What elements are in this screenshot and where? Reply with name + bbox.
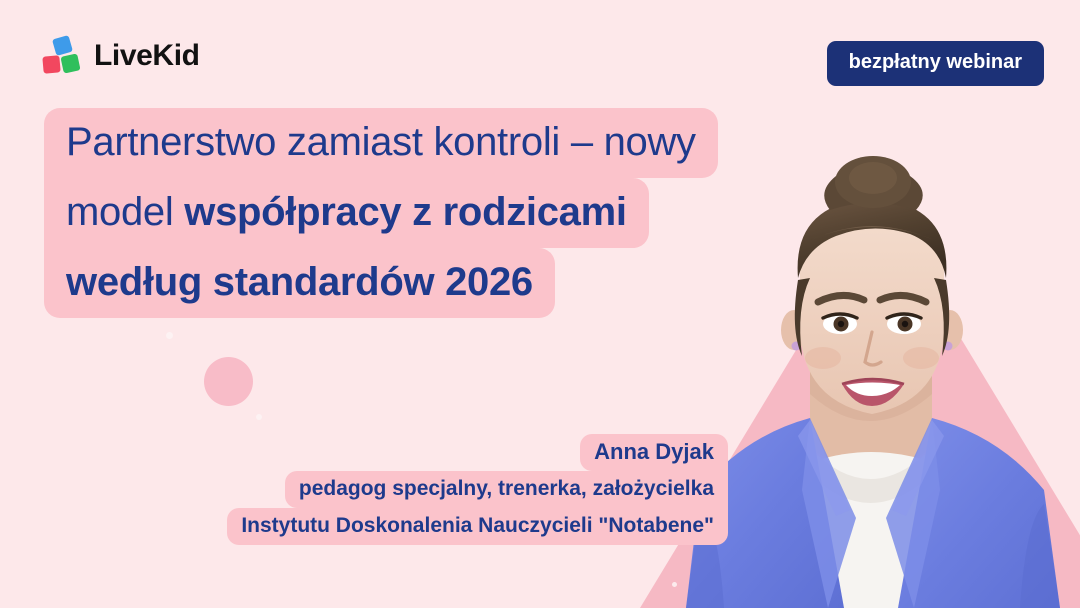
free-webinar-badge: bezpłatny webinar xyxy=(827,41,1044,86)
background-dot-1 xyxy=(166,332,173,339)
speaker-organization: Instytutu Doskonalenia Nauczycieli "Nota… xyxy=(227,508,728,545)
speaker-name: Anna Dyjak xyxy=(580,434,728,471)
headline-line-1: Partnerstwo zamiast kontroli – nowy xyxy=(44,108,718,178)
speaker-role: pedagog specjalny, trenerka, założycielk… xyxy=(285,471,728,508)
livekid-squares-logo-icon xyxy=(40,36,82,76)
speaker-block: Anna Dyjak pedagog specjalny, trenerka, … xyxy=(227,434,728,545)
background-dot-2 xyxy=(256,414,262,420)
background-circle-shape xyxy=(204,357,253,406)
logo-square-blue-icon xyxy=(52,35,73,56)
headline-line-2-bold: współpracy z rodzicami xyxy=(184,190,626,234)
logo-wordmark: LiveKid xyxy=(94,39,200,73)
logo-square-green-icon xyxy=(60,53,80,73)
headline-line-3: według standardów 2026 xyxy=(44,248,555,318)
livekid-logo[interactable]: LiveKid xyxy=(40,36,200,76)
webinar-promo-banner: LiveKid bezpłatny webinar Partnerstwo za… xyxy=(0,0,1080,608)
headline-line-2-regular: model xyxy=(66,190,184,234)
headline-line-2: model współpracy z rodzicami xyxy=(44,178,649,248)
headline-block: Partnerstwo zamiast kontroli – nowy mode… xyxy=(44,108,718,318)
headline-line-3-bold: według standardów 2026 xyxy=(66,260,533,304)
logo-square-red-icon xyxy=(42,55,60,73)
